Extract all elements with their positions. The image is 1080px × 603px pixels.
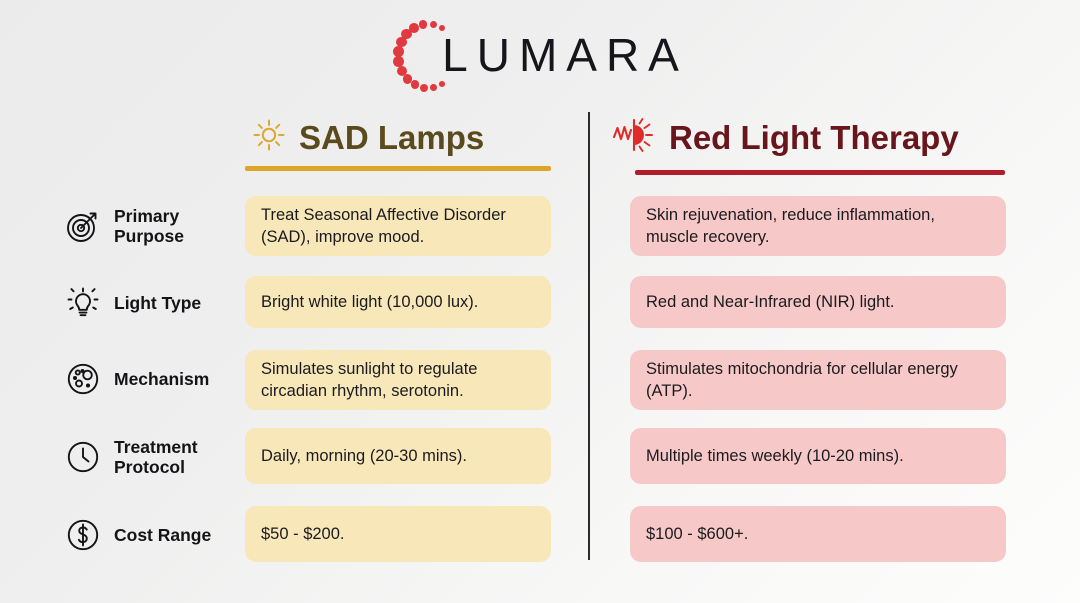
row-label-text: Mechanism (114, 369, 209, 389)
light-wave-half-sun-icon (612, 117, 656, 158)
row-label-cost-range: Cost Range (66, 518, 246, 552)
lightbulb-icon (66, 286, 100, 320)
cell-right-primary-purpose: Skin rejuvenation, reduce inflammation, … (630, 196, 1006, 256)
row-label-text: Light Type (114, 293, 201, 313)
cell-right-cost-range: $100 - $600+. (630, 506, 1006, 562)
row-label-treatment-protocol: TreatmentProtocol (66, 437, 246, 478)
column-title-right: Red Light Therapy (669, 121, 959, 154)
brand-logo: LUMARA (0, 18, 1080, 94)
clock-icon (66, 440, 100, 474)
cell-left-mechanism: Simulates sunlight to regulate circadian… (245, 350, 551, 410)
column-accent-bar-right (635, 170, 1005, 175)
row-label-primary-purpose: PrimaryPurpose (66, 206, 246, 247)
cell-left-light-type: Bright white light (10,000 lux). (245, 276, 551, 328)
cell-right-treatment-protocol: Multiple times weekly (10-20 mins). (630, 428, 1006, 484)
target-arrow-icon (66, 209, 100, 243)
column-title-left: SAD Lamps (299, 121, 484, 154)
cell-right-mechanism: Stimulates mitochondria for cellular ene… (630, 350, 1006, 410)
cell-molecule-icon (66, 362, 100, 396)
cell-left-cost-range: $50 - $200. (245, 506, 551, 562)
column-accent-bar-left (245, 166, 551, 171)
row-label-text: Cost Range (114, 525, 211, 545)
cell-right-light-type: Red and Near-Infrared (NIR) light. (630, 276, 1006, 328)
brand-name: LUMARA (442, 32, 688, 80)
row-label-mechanism: Mechanism (66, 362, 246, 396)
cell-left-treatment-protocol: Daily, morning (20-30 mins). (245, 428, 551, 484)
row-label-text: TreatmentProtocol (114, 437, 198, 478)
column-header-sad-lamps: SAD Lamps (252, 114, 484, 160)
dollar-circle-icon (66, 518, 100, 552)
sun-icon (252, 118, 286, 157)
dot-arc-icon (392, 21, 458, 91)
cell-left-primary-purpose: Treat Seasonal Affective Disorder (SAD),… (245, 196, 551, 256)
column-header-red-light-therapy: Red Light Therapy (612, 114, 959, 160)
row-label-light-type: Light Type (66, 286, 246, 320)
column-divider (588, 112, 590, 560)
row-label-text: PrimaryPurpose (114, 206, 184, 247)
